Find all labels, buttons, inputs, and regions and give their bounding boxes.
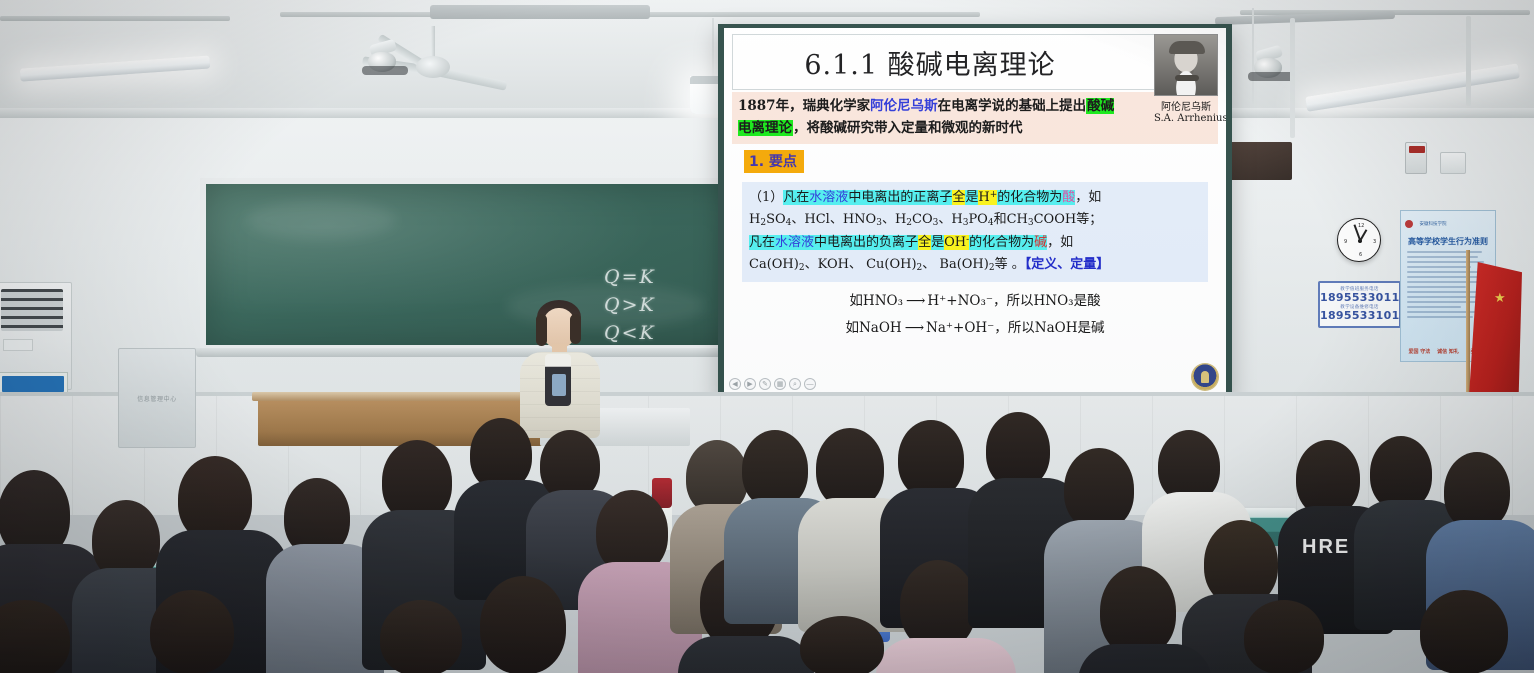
conduit-pipe — [1290, 18, 1295, 138]
alarm-led — [1409, 146, 1425, 153]
student-head — [1100, 566, 1176, 656]
student-head — [686, 440, 748, 514]
rule-line-1: （1）凡在水溶液中电离出的正离子全是H+的化合物为酸，如 — [749, 187, 1201, 209]
poster-motto-2: 诚信 知礼 — [1437, 348, 1459, 355]
camera-mount — [362, 66, 408, 75]
eq2-tail: 所以NaOH是碱 — [1008, 320, 1105, 336]
keypoint-badge: 1. 要点 — [744, 150, 804, 173]
arrhenius-portrait-block: 阿伦尼乌斯 S.A. Arrhenius — [1154, 34, 1218, 124]
student-head — [1244, 600, 1324, 673]
eq1-lhs: 如HNO₃ — [849, 293, 903, 309]
ac-vent — [1, 289, 63, 331]
clock-mark-9: 9 — [1344, 239, 1347, 245]
pen-tool-icon[interactable]: ✎ — [759, 378, 771, 390]
r2-h: 碱 — [1034, 235, 1047, 250]
poster-org-name: 安徽科技学院 — [1419, 221, 1446, 227]
teacher-lanyard — [552, 374, 566, 396]
r1-b: 水溶液 — [809, 190, 848, 205]
fluorescent-light-off — [430, 5, 650, 19]
bulletin-header — [2, 376, 64, 392]
r2-f: OH — [944, 235, 966, 250]
classroom-photo: Q=K Q>K Q<K 6.1.1 酸碱电离理论 阿伦尼乌斯 S.A. Arrh… — [0, 0, 1534, 673]
poster-title: 高等学校学生行为准则 — [1405, 236, 1491, 247]
r1-a: 凡在 — [783, 190, 809, 205]
r2-c: 中电离出的负离子 — [814, 235, 918, 250]
jacket-print-text: HRE — [1302, 536, 1350, 559]
emergency-phone-sign: 教学值班服务电话 18955330110 教学设备维修电话 1895533101… — [1318, 281, 1401, 328]
next-slide-icon[interactable]: ▶ — [744, 378, 756, 390]
keypoint-row: 1. 要点 — [732, 150, 1218, 173]
student-head — [1296, 440, 1360, 516]
wall-clock: 12 3 6 9 — [1337, 218, 1381, 262]
teacher-hair-right — [570, 314, 581, 344]
r1-g: 的化合物为 — [997, 190, 1062, 205]
surveillance-camera — [362, 42, 408, 76]
conduit-pipe — [1466, 16, 1471, 106]
eq1-rhs: H⁺+NO₃⁻， — [927, 293, 1006, 309]
blackboard: Q=K Q>K Q<K — [200, 178, 760, 348]
wall-switch-box[interactable] — [1440, 152, 1466, 174]
powerpoint-slide[interactable]: 6.1.1 酸碱电离理论 阿伦尼乌斯 S.A. Arrhenius 1887年，… — [724, 28, 1226, 394]
rule-line-2: 凡在水溶液中电离出的负离子全是OH-的化合物为碱，如 — [749, 232, 1201, 254]
r1-i: ，如 — [1075, 190, 1101, 205]
r2-g: 的化合物为 — [969, 235, 1034, 250]
student-head — [800, 616, 884, 673]
student-head — [816, 428, 884, 508]
reaction-arrow-icon: ⟶ — [903, 293, 927, 309]
zoom-tool-icon[interactable]: ⌕ — [789, 378, 801, 390]
r1-h: 酸 — [1062, 190, 1075, 205]
student-head — [480, 576, 566, 673]
r2-i: ，如 — [1047, 235, 1073, 250]
teacher-hair-left — [536, 314, 547, 346]
student-head — [1444, 452, 1510, 530]
student-body — [678, 636, 814, 673]
chalk-text-qeqk: Q=K — [604, 266, 656, 288]
chalk-text-qltk: Q<K — [604, 322, 656, 344]
student-head — [742, 430, 808, 508]
student-head — [150, 590, 234, 673]
intro-arrhenius-name: 阿伦尼乌斯 — [870, 98, 938, 114]
reaction-arrow-icon: ⟶ — [902, 320, 926, 336]
info-panel-label: 信息管理中心 — [137, 394, 177, 403]
alarm-panel — [1405, 142, 1427, 174]
surveillance-camera — [1248, 48, 1294, 82]
ac-label — [3, 339, 33, 351]
university-emblem-icon — [1192, 364, 1218, 390]
poster-header: 安徽科技学院 — [1405, 215, 1491, 233]
r1-c: 中电离出的正离子 — [848, 190, 952, 205]
wall-panel — [1230, 142, 1292, 180]
intro-part3: ，将酸碱研究带入定量和微观的新时代 — [793, 120, 1023, 136]
definition-tag: 【定义、定量】 — [1025, 257, 1110, 272]
teacher — [512, 300, 608, 440]
clock-mark-3: 3 — [1373, 239, 1376, 245]
student-head — [898, 420, 964, 498]
phone-number-1: 18955330110 — [1320, 292, 1399, 304]
r2-d: 全 — [918, 235, 931, 250]
student-head — [1420, 590, 1508, 673]
student-head — [1064, 448, 1134, 530]
chalk-tray — [196, 348, 764, 357]
slide-overview-icon[interactable]: ▦ — [774, 378, 786, 390]
slide-title: 6.1.1 酸碱电离理论 — [733, 43, 1127, 82]
r2-a: 凡在 — [749, 235, 775, 250]
intro-part2: 在电离学说的基础上提出 — [938, 98, 1087, 114]
portrait-caption-cn: 阿伦尼乌斯 — [1154, 98, 1218, 113]
r2-b: 水溶液 — [775, 235, 814, 250]
student-head — [986, 412, 1050, 488]
portrait-moustache — [1175, 75, 1199, 81]
powerpoint-control-bar[interactable]: ◀ ▶ ✎ ▦ ⌕ — — [729, 378, 816, 390]
eq1-tail: 所以HNO₃是酸 — [1007, 293, 1101, 309]
previous-slide-icon[interactable]: ◀ — [729, 378, 741, 390]
projection-screen[interactable]: 6.1.1 酸碱电离理论 阿伦尼乌斯 S.A. Arrhenius 1887年，… — [724, 28, 1226, 394]
fan-rod — [431, 26, 435, 60]
eq2-rhs: Na⁺+OH⁻， — [926, 320, 1008, 336]
intro-part1: 1887年，瑞典化学家 — [738, 98, 870, 114]
information-management-center-panel[interactable]: 信息管理中心 — [118, 348, 196, 448]
slide-rule-block: （1）凡在水溶液中电离出的正离子全是H+的化合物为酸，如 H2SO4、HCl、H… — [742, 182, 1208, 283]
student-body — [1078, 644, 1212, 673]
equation-line-2: 如NaOH⟶Na⁺+OH⁻，所以NaOH是碱 — [732, 316, 1218, 336]
eq2-lhs: 如NaOH — [845, 320, 901, 336]
lectern-top — [252, 392, 554, 401]
university-crest-icon — [1405, 220, 1413, 228]
r1-e: 是 — [965, 190, 978, 205]
slide-title-bar: 6.1.1 酸碱电离理论 — [732, 34, 1218, 90]
r1-f: H — [978, 190, 989, 205]
r2-e: 是 — [931, 235, 944, 250]
pendant-cord — [712, 18, 714, 80]
rule-acids-line: H2SO4、HCl、HNO3、H2CO3、H3PO4和CH3COOH等； — [749, 209, 1201, 231]
flag-star-icon: ★ — [1494, 290, 1506, 306]
portrait-hair — [1169, 41, 1205, 54]
slide-intro-paragraph: 1887年，瑞典化学家阿伦尼乌斯在电离学说的基础上提出酸碱电离理论，将酸碱研究带… — [732, 92, 1218, 144]
clock-mark-6: 6 — [1359, 252, 1362, 258]
r1-d: 全 — [952, 190, 965, 205]
student-body — [876, 638, 1016, 673]
chalk-text-qgtk: Q>K — [604, 294, 656, 316]
more-options-icon[interactable]: — — [804, 378, 816, 390]
wall-trim — [0, 392, 1534, 396]
rule-number: （1） — [749, 190, 783, 205]
fan-hub — [416, 56, 450, 78]
poster-motto-1: 爱国 守法 — [1408, 348, 1430, 355]
student-head — [380, 600, 462, 673]
phone-number-2: 18955331011 — [1320, 310, 1399, 322]
student-head — [900, 560, 976, 650]
chalk-smudge — [246, 200, 396, 240]
clock-mark-12: 12 — [1358, 223, 1364, 229]
camera-mount — [1248, 72, 1294, 81]
arrhenius-photo — [1154, 34, 1218, 96]
student-head — [1370, 436, 1432, 510]
equation-line-1: 如HNO₃⟶H⁺+NO₃⁻，所以HNO₃是酸 — [732, 289, 1218, 309]
portrait-caption-en: S.A. Arrhenius — [1154, 113, 1218, 124]
rule-bases-line: Ca(OH)2、KOH、 Cu(OH)2、 Ba(OH)2等 。【定义、定量】 — [749, 254, 1201, 276]
ceiling-beam — [0, 16, 230, 21]
